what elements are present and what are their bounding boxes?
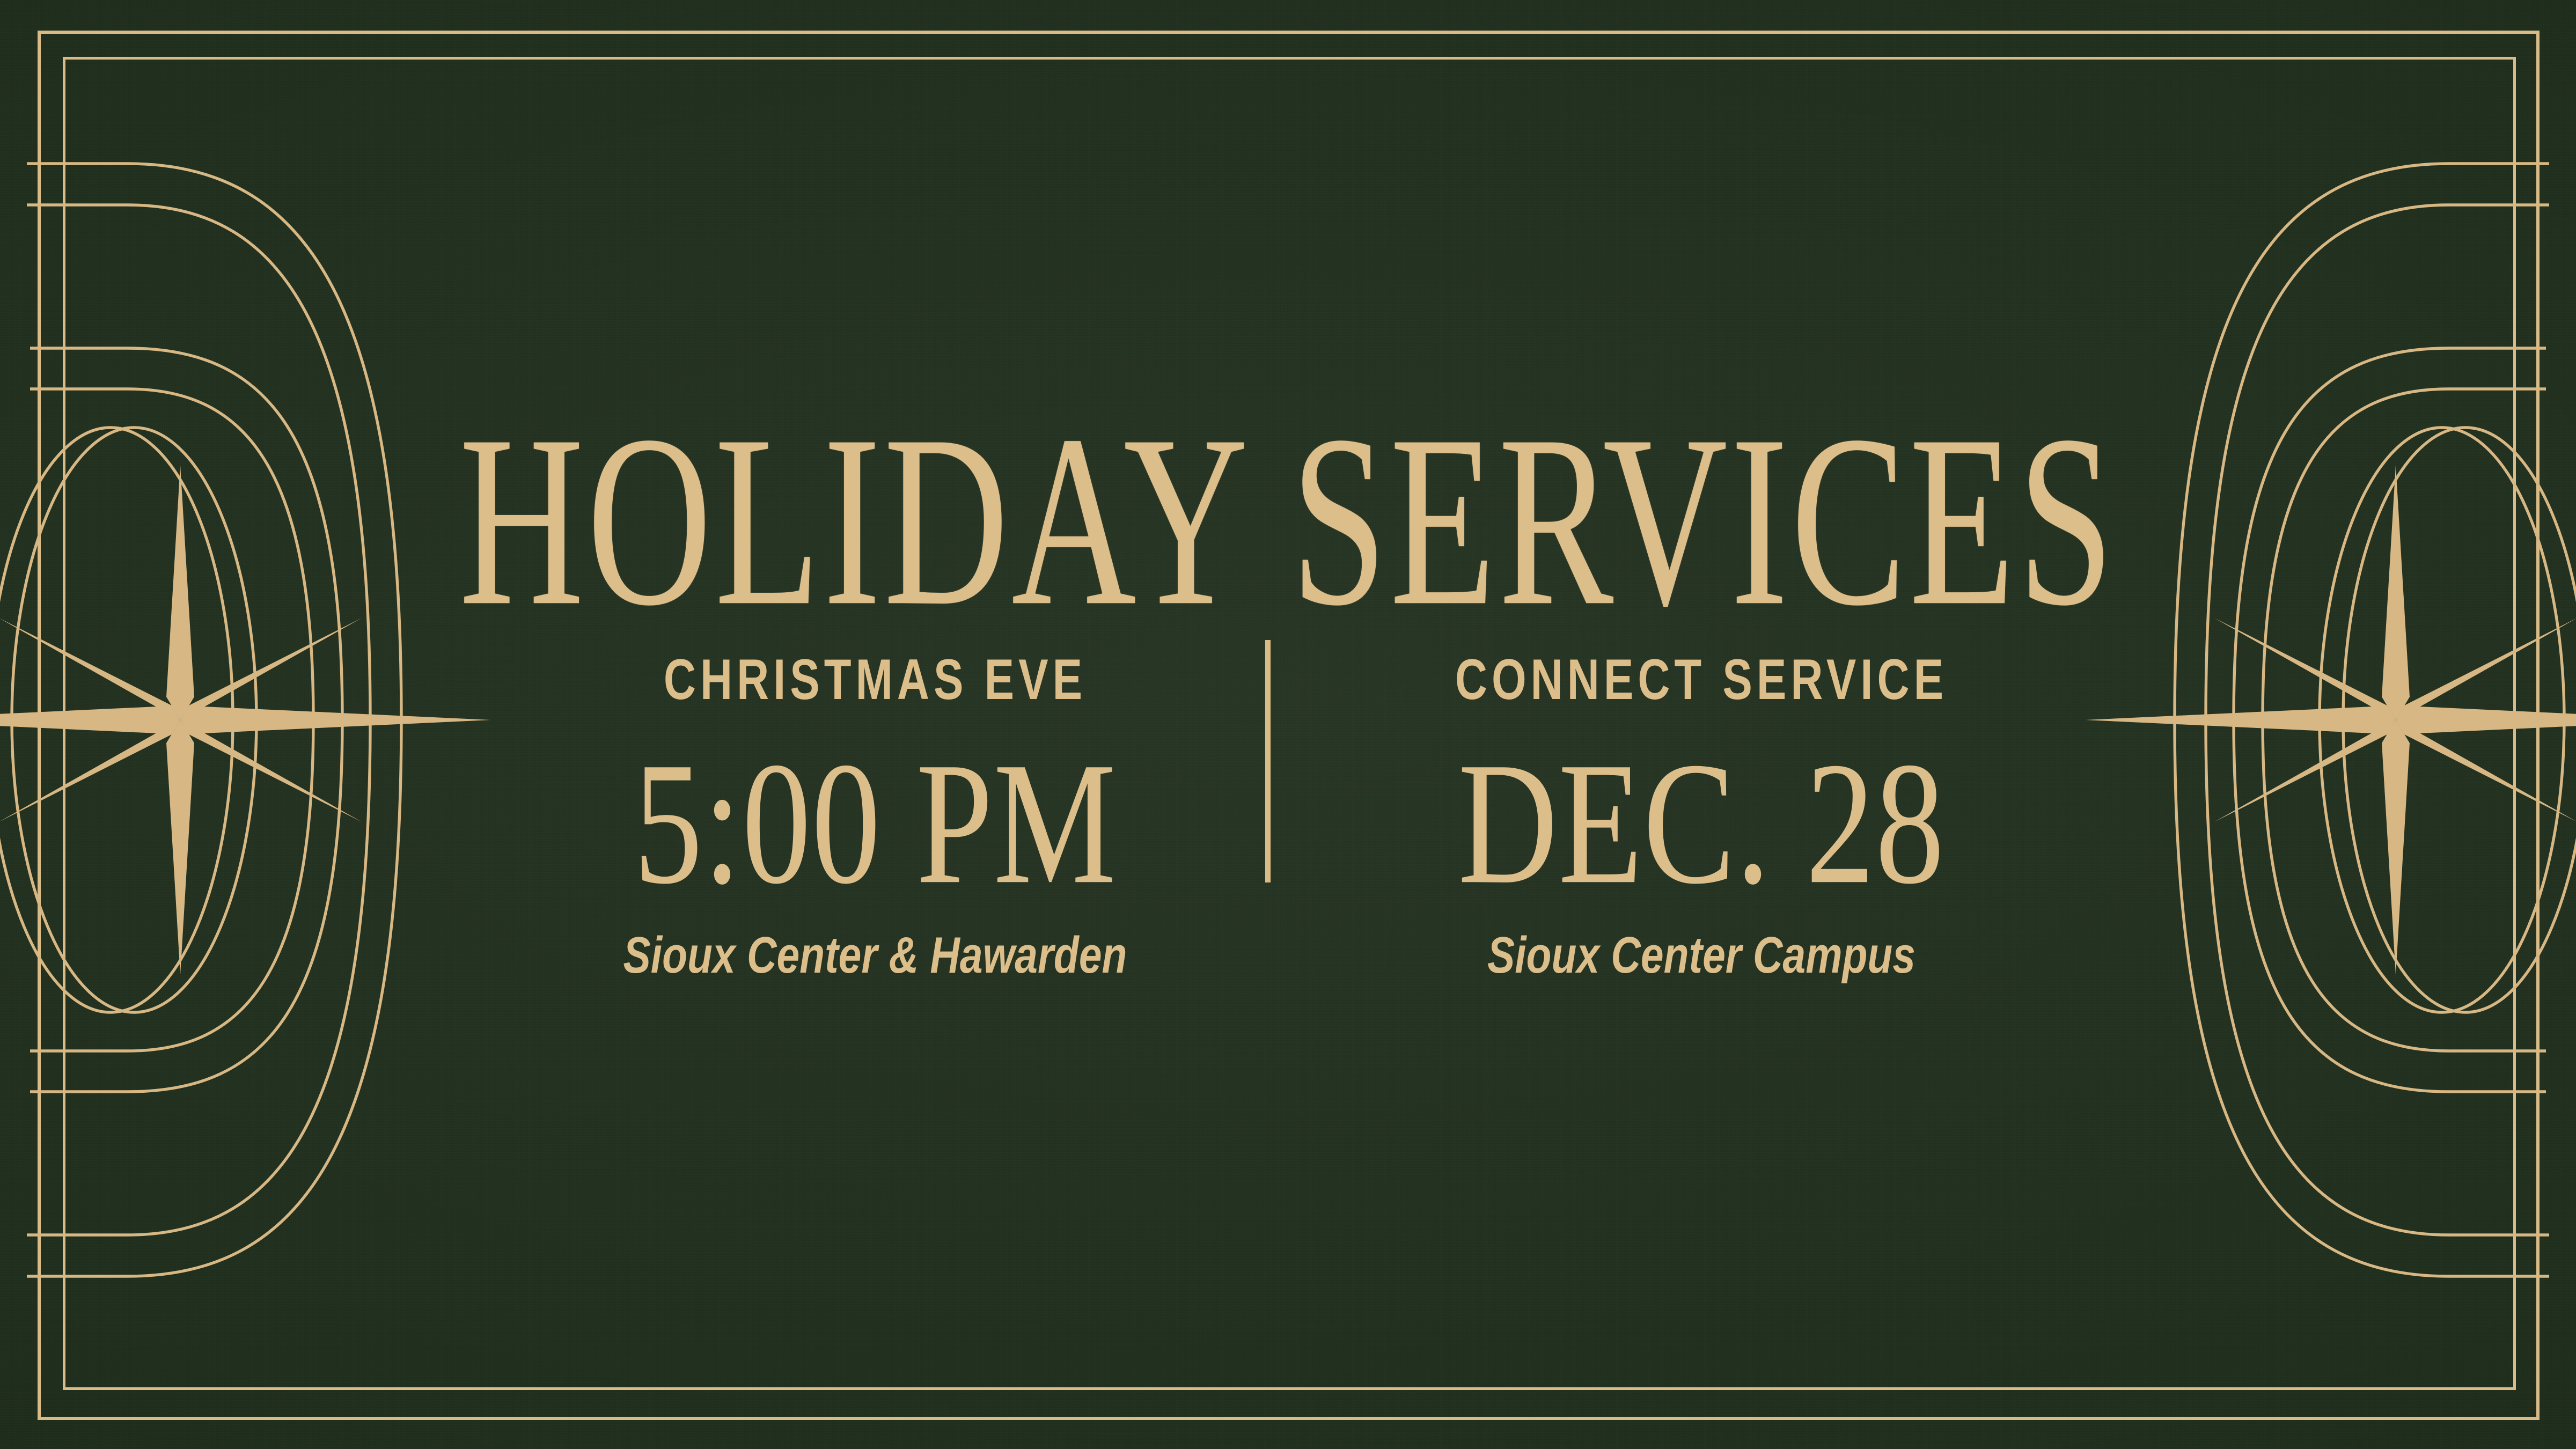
- service-column-christmas-eve: CHRISTMAS EVE 5:00 PM Sioux Center & Haw…: [462, 652, 1288, 981]
- poster-canvas: HOLIDAY SERVICES CHRISTMAS EVE 5:00 PM S…: [0, 0, 2576, 1449]
- service-columns: CHRISTMAS EVE 5:00 PM Sioux Center & Haw…: [75, 652, 2501, 981]
- service-location: Sioux Center Campus: [1371, 930, 2032, 981]
- service-eyebrow: CHRISTMAS EVE: [545, 651, 1206, 708]
- service-time: 5:00 PM: [478, 735, 1271, 911]
- service-location: Sioux Center & Hawarden: [545, 930, 1206, 981]
- page-title: HOLIDAY SERVICES: [109, 398, 2467, 644]
- service-eyebrow: CONNECT SERVICE: [1371, 651, 2032, 708]
- service-column-connect-service: CONNECT SERVICE DEC. 28 Sioux Center Cam…: [1288, 652, 2115, 981]
- vertical-divider: [1265, 640, 1271, 882]
- service-date: DEC. 28: [1304, 735, 2097, 911]
